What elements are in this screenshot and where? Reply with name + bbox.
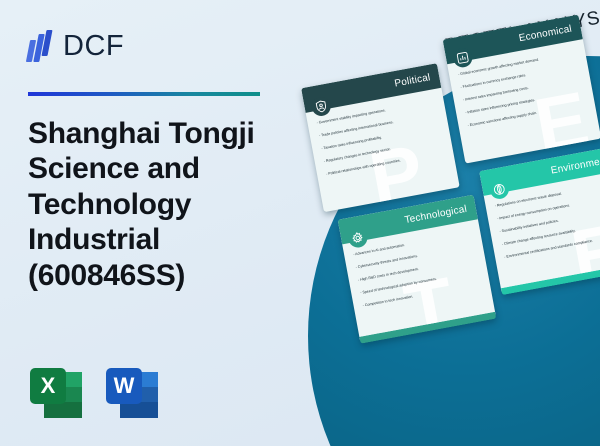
card-title-environment: Environment (550, 155, 600, 176)
bullet-list-economical: Global economic growth affecting market … (458, 51, 587, 128)
brand-name: DCF (63, 30, 124, 63)
pestel-card-economical[interactable]: Economical E Global economic growth affe… (443, 15, 600, 164)
pestel-section: PESTEL ANALYSIS Political P Go (305, 0, 600, 446)
word-file-icon: W (106, 368, 142, 404)
bullet-list-technological: Advances in AI and automation. Cybersecu… (353, 232, 482, 309)
bullet-list-environment: Regulations on electronic waste disposal… (495, 183, 600, 260)
excel-file-icon: X (30, 368, 66, 404)
pestel-infographic-page: DCF Shanghai Tongji Science and Technolo… (0, 0, 600, 446)
bullet-list-political: Government stability impacting operation… (316, 100, 445, 177)
card-title-economical: Economical (518, 23, 573, 44)
bar-chart-logo-icon (28, 30, 54, 62)
card-title-political: Political (394, 72, 432, 89)
pestel-card-environment[interactable]: Environment E Regulations on electronic … (479, 146, 600, 295)
page-title: Shanghai Tongji Science and Technology I… (28, 116, 296, 293)
word-download-button[interactable]: W (106, 368, 158, 420)
pestel-card-technological[interactable]: Technological T Advances in AI and autom… (338, 195, 497, 344)
download-icons-row: X W (30, 368, 158, 420)
excel-download-button[interactable]: X (30, 368, 82, 420)
pestel-card-political[interactable]: Political P Government stability impacti… (301, 63, 460, 212)
pestel-card-grid: Political P Government stability impacti… (301, 34, 600, 353)
brand-logo[interactable]: DCF (28, 26, 310, 66)
title-divider (28, 92, 260, 96)
